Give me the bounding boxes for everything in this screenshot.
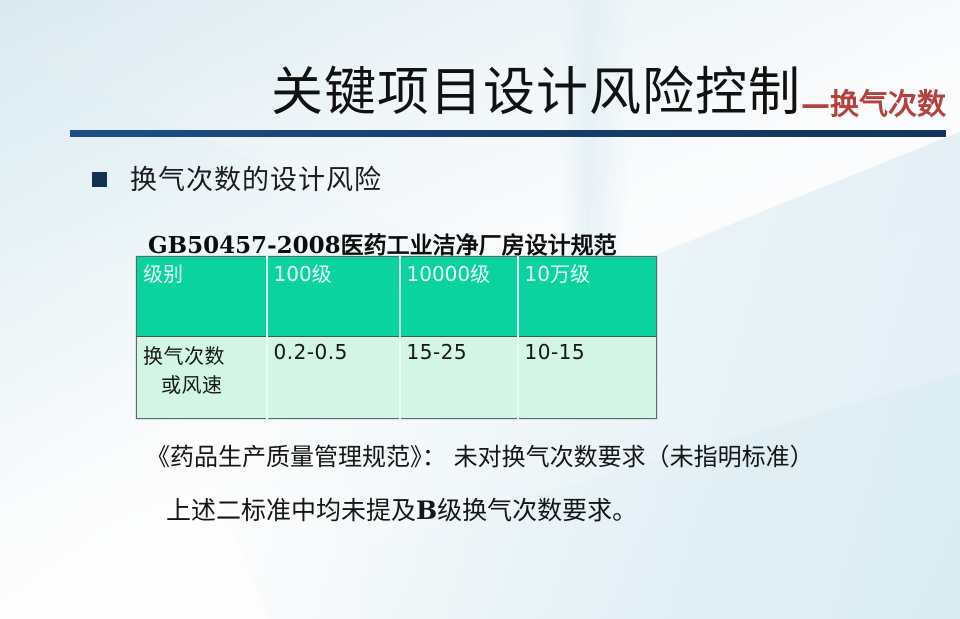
table-cell-class100000-value: 10-15 — [518, 337, 657, 419]
square-bullet-icon — [92, 172, 107, 187]
standard-airchange-table: 级别 100级 10000级 10万级 换气次数 或风速 0.2-0.5 15-… — [136, 256, 657, 419]
slide-title: 关键项目设计风险控制—换气次数 — [70, 54, 946, 134]
slide-title-subtitle: —换气次数 — [801, 87, 946, 121]
table-cell-class10000-value: 15-25 — [400, 337, 518, 419]
title-underline-rule — [70, 130, 946, 137]
table-row: 换气次数 或风速 0.2-0.5 15-25 10-15 — [137, 337, 657, 419]
note-grade-b-part1: 上述二标准中均未提及 — [166, 496, 416, 525]
table-column-header-class100: 100级 — [267, 257, 400, 337]
note-gmp-requirement: 《药品生产质量管理规范》： 未对换气次数要求（未指明标准） — [146, 437, 814, 472]
table-cell-row-label: 换气次数 或风速 — [137, 337, 267, 419]
table-column-header-grade: 级别 — [137, 257, 267, 337]
table-column-header-class10000: 10000级 — [400, 257, 518, 337]
note-grade-b-emphasis: B — [416, 496, 437, 525]
table-caption: GB50457-2008医药工业洁净厂房设计规范 — [148, 226, 617, 260]
table-cell-class100-value: 0.2-0.5 — [267, 337, 400, 419]
table-column-header-class100000: 10万级 — [518, 257, 657, 337]
note-grade-b-part2: 级换气次数要求。 — [437, 496, 637, 525]
table-header-row: 级别 100级 10000级 10万级 — [137, 257, 657, 337]
bullet-item-label: 换气次数的设计风险 — [130, 158, 382, 197]
row-label-line-1: 换气次数 — [143, 344, 225, 368]
bullet-item: 换气次数的设计风险 — [92, 158, 382, 197]
slide-title-main: 关键项目设计风险控制 — [271, 63, 801, 123]
row-label-line-2: 或风速 — [143, 369, 266, 398]
note-grade-b-summary: 上述二标准中均未提及B级换气次数要求。 — [166, 491, 637, 527]
slide-canvas: 关键项目设计风险控制—换气次数 换气次数的设计风险 GB50457-2008医药… — [0, 0, 960, 619]
